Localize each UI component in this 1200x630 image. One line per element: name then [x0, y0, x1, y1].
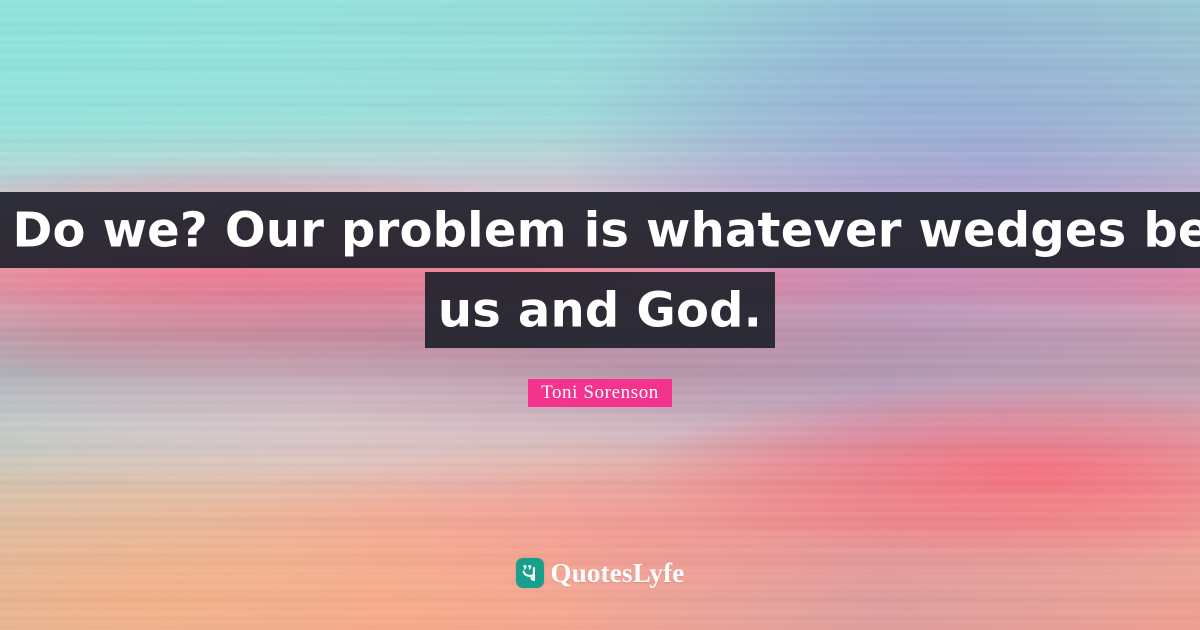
- author-name-badge[interactable]: Toni Sorenson: [528, 379, 672, 407]
- quote-line-2-text: us and God.: [425, 272, 774, 349]
- author-block: Toni Sorenson: [0, 379, 1200, 407]
- quote-line: us and God.: [0, 276, 1200, 345]
- quote-smiley-icon: [516, 558, 544, 588]
- brand-name-label: QuotesLyfe: [551, 560, 685, 587]
- brand-footer[interactable]: QuotesLyfe: [0, 558, 1200, 588]
- quote-block: Do we? Our problem is whatever wedges be…: [0, 196, 1200, 345]
- quote-line: Do we? Our problem is whatever wedges be…: [0, 196, 1200, 265]
- quote-line-1-text: Do we? Our problem is whatever wedges be…: [0, 192, 1200, 269]
- quote-card: Do we? Our problem is whatever wedges be…: [0, 0, 1200, 630]
